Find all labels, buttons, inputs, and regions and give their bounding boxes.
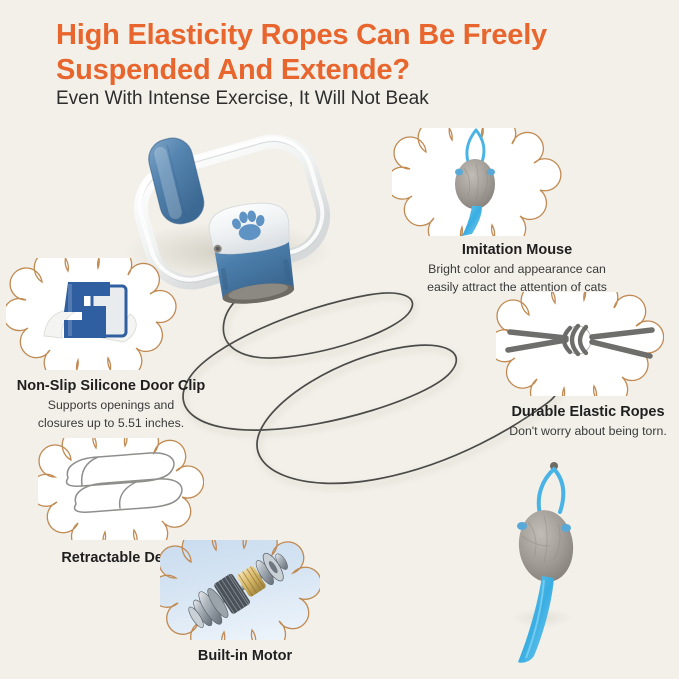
callout-desc-line-1: Bright color and appearance can: [392, 261, 642, 277]
callout-title: Imitation Mouse: [392, 241, 642, 259]
mouse-toy-icon: [392, 128, 562, 236]
caption-built-in-motor: Built-in Motor: [160, 647, 330, 665]
paw-print-icon: [229, 209, 268, 243]
callout-title: Non-Slip Silicone Door Clip: [6, 377, 216, 395]
caption-door-clip: Non-Slip Silicone Door Clip Supports ope…: [6, 377, 216, 432]
bubble-imitation-mouse: [392, 128, 642, 241]
bubble-durable-elastic-ropes: [496, 292, 679, 401]
bubble-door-clip: [6, 258, 216, 375]
caption-durable-elastic-ropes: Durable Elastic Ropes Don't worry about …: [496, 403, 679, 439]
callout-desc-line-2: closures up to 5.51 inches.: [6, 415, 216, 431]
callout-door-clip: Non-Slip Silicone Door Clip Supports ope…: [6, 258, 216, 432]
plush-mouse-toy: [512, 462, 577, 663]
caption-imitation-mouse: Imitation Mouse Bright color and appeara…: [392, 241, 642, 296]
callout-desc-line-1: Don't worry about being torn.: [496, 423, 679, 439]
bubble-retractable-design: [38, 438, 216, 545]
motor-icon: [160, 540, 320, 640]
callout-desc-line-1: Supports openings and: [6, 397, 216, 413]
blue-silicone-door-clip-part: [144, 134, 207, 228]
bubble-built-in-motor: [160, 540, 330, 645]
callout-built-in-motor: Built-in Motor: [160, 540, 330, 665]
page-title: High Elasticity Ropes Can Be Freely Susp…: [56, 18, 656, 89]
knotted-rope-icon: [496, 292, 664, 396]
coiled-rope-icon: [38, 438, 204, 540]
callout-title: Durable Elastic Ropes: [496, 403, 679, 421]
door-clip-icon: [6, 258, 178, 370]
infographic-canvas: High Elasticity Ropes Can Be Freely Susp…: [0, 0, 679, 679]
callout-durable-elastic-ropes: Durable Elastic Ropes Don't worry about …: [496, 292, 679, 439]
motor-housing: [206, 199, 299, 308]
callout-title: Built-in Motor: [160, 647, 330, 665]
page-subtitle: Even With Intense Exercise, It Will Not …: [56, 88, 656, 110]
callout-imitation-mouse: Imitation Mouse Bright color and appeara…: [392, 128, 642, 296]
